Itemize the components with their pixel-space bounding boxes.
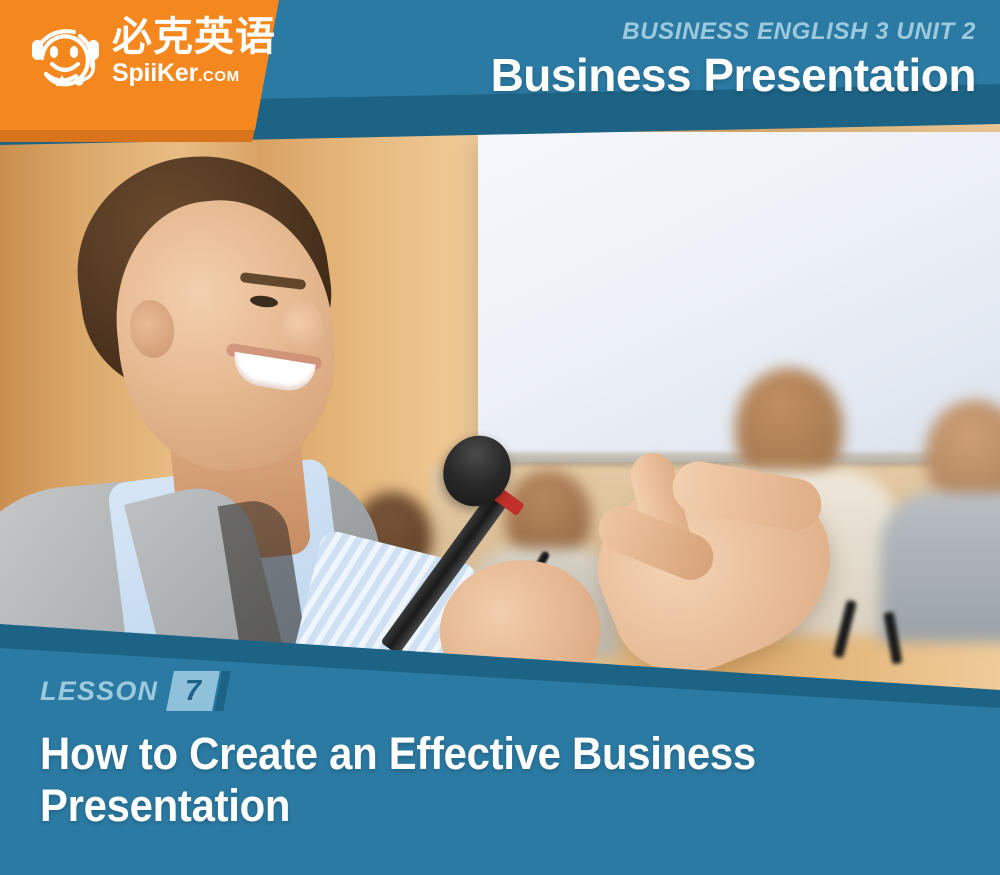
brand-logo[interactable]: 必克英语 SpiiKer.COM [22,14,272,106]
lesson-title: How to Create an Effective Business Pres… [40,728,882,832]
lesson-number: 7 [185,677,201,706]
brand-name-en-main: SpiiKer [112,59,198,87]
brand-wordmark: 必克英语 SpiiKer.COM [112,14,312,88]
audience-body [880,492,1000,642]
page-title: Business Presentation [491,48,976,102]
lesson-number-badge: 7 [166,671,220,711]
smiley-headset-icon [22,18,108,102]
lesson-cover-card: 必克英语 SpiiKer.COM BUSINESS ENGLISH 3 UNIT… [0,0,1000,875]
brand-name-cn: 必克英语 [112,14,312,60]
brand-name-en: SpiiKer.COM [112,59,312,88]
lesson-indicator: LESSON 7 [40,672,216,710]
course-kicker: BUSINESS ENGLISH 3 UNIT 2 [622,18,976,46]
brand-name-en-tld: .COM [198,68,240,85]
lesson-label: LESSON [40,676,158,707]
